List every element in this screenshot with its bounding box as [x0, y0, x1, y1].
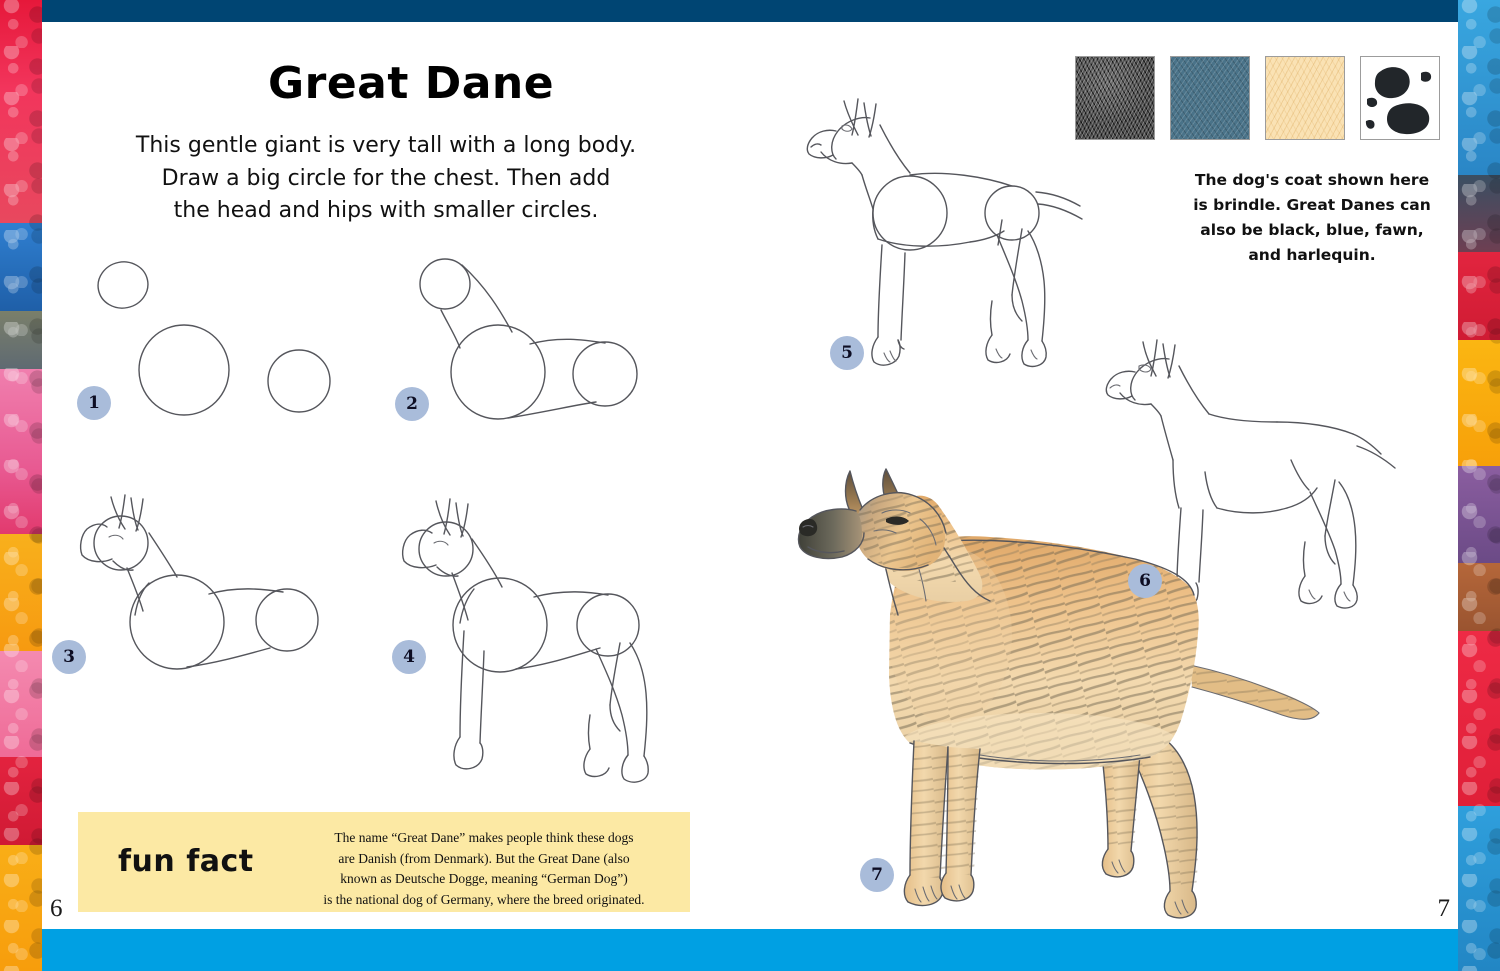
fun-fact-line-3: known as Deutsche Dogge, meaning “German…	[288, 869, 680, 890]
coat-note-line-2: is brindle. Great Danes can	[1180, 193, 1444, 218]
step-badge-5-number: 5	[841, 343, 853, 363]
fun-fact-label: fun fact	[118, 844, 254, 879]
step-badge-2: 2	[395, 387, 429, 421]
coat-note-line-3: also be black, blue, fawn,	[1180, 218, 1444, 243]
step-badge-1-number: 1	[88, 393, 100, 413]
intro-line-1: This gentle giant is very tall with a lo…	[96, 130, 676, 163]
page-number-right: 7	[1438, 895, 1451, 923]
left-decorative-border	[0, 0, 42, 971]
step-badge-6-number: 6	[1139, 571, 1151, 591]
step-badge-3-number: 3	[63, 647, 75, 667]
fun-fact-box: fun fact The name “Great Dane” makes peo…	[78, 812, 690, 912]
top-bar	[0, 0, 1500, 22]
step-1-drawing	[85, 250, 375, 435]
step-badge-5: 5	[830, 336, 864, 370]
step-7-drawing	[790, 455, 1350, 925]
coat-swatch-blue	[1170, 56, 1250, 140]
step-badge-3: 3	[52, 640, 86, 674]
step-5-drawing	[800, 85, 1100, 375]
step-badge-2-number: 2	[406, 394, 418, 414]
step-badge-7: 7	[860, 858, 894, 892]
intro-line-2: Draw a big circle for the chest. Then ad…	[96, 163, 676, 196]
bottom-bar	[0, 929, 1500, 971]
page-title: Great Dane	[268, 58, 554, 109]
coat-note-line-4: and harlequin.	[1180, 243, 1444, 268]
step-badge-7-number: 7	[871, 865, 883, 885]
step-badge-1: 1	[77, 386, 111, 420]
fun-fact-line-1: The name “Great Dane” makes people think…	[288, 828, 680, 849]
fun-fact-line-2: are Danish (from Denmark). But the Great…	[288, 849, 680, 870]
coat-note-line-1: The dog's coat shown here	[1180, 168, 1444, 193]
fun-fact-body: The name “Great Dane” makes people think…	[288, 828, 680, 910]
coat-note: The dog's coat shown here is brindle. Gr…	[1180, 168, 1444, 268]
intro-line-3: the head and hips with smaller circles.	[96, 195, 676, 228]
coat-swatch-fawn	[1265, 56, 1345, 140]
fun-fact-line-4: is the national dog of Germany, where th…	[288, 890, 680, 911]
page-number-left: 6	[50, 895, 63, 923]
coat-color-swatches	[1075, 56, 1440, 140]
step-badge-6: 6	[1128, 564, 1162, 598]
step-2-drawing	[400, 252, 670, 432]
step-3-drawing	[65, 465, 365, 690]
right-decorative-border	[1458, 0, 1500, 971]
step-badge-4-number: 4	[403, 647, 415, 667]
step-badge-4: 4	[392, 640, 426, 674]
step-4-drawing	[398, 465, 698, 795]
book-spread: Great Dane This gentle giant is very tal…	[0, 0, 1500, 971]
coat-swatch-harlequin	[1360, 56, 1440, 140]
intro-text: This gentle giant is very tall with a lo…	[96, 130, 676, 228]
